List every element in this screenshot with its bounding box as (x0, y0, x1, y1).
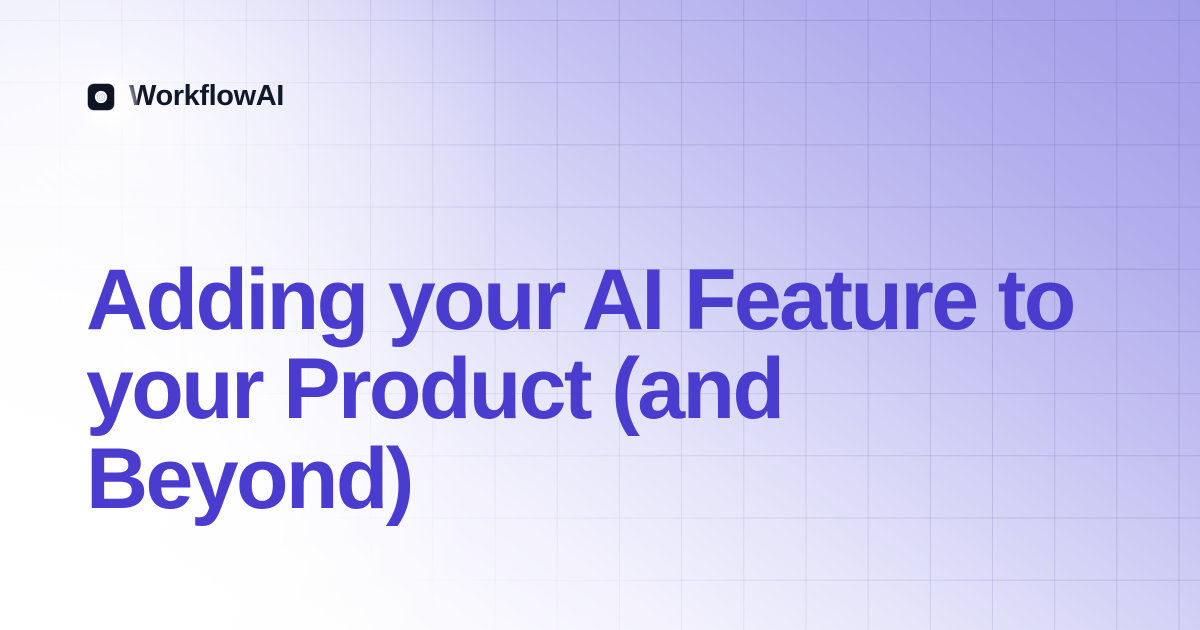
brand-name: WorkflowAI (129, 82, 284, 111)
page-title: Adding your AI Feature to your Product (… (86, 256, 1126, 524)
share-banner: WorkflowAI Adding your AI Feature to you… (0, 0, 1200, 630)
aperture-square-icon (88, 84, 114, 110)
brand-lockup: WorkflowAI (88, 82, 284, 111)
banner-content: WorkflowAI Adding your AI Feature to you… (0, 0, 1200, 630)
